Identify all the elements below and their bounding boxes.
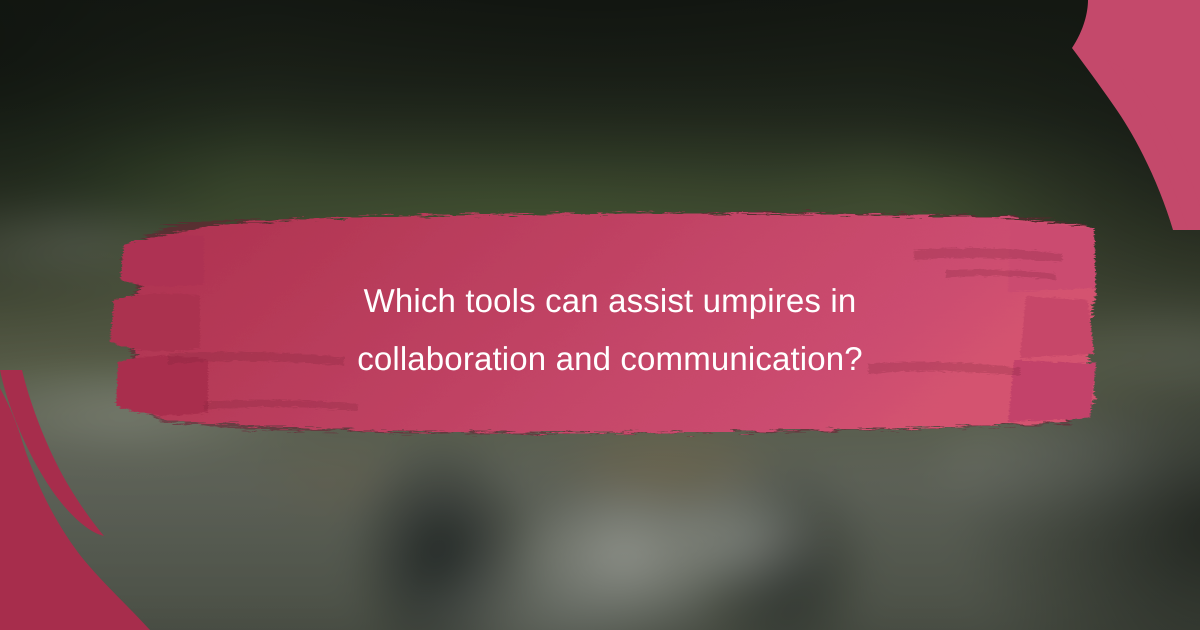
question-card: Which tools can assist umpires in collab… xyxy=(0,0,1200,630)
page-title: Which tools can assist umpires in collab… xyxy=(160,272,1060,388)
